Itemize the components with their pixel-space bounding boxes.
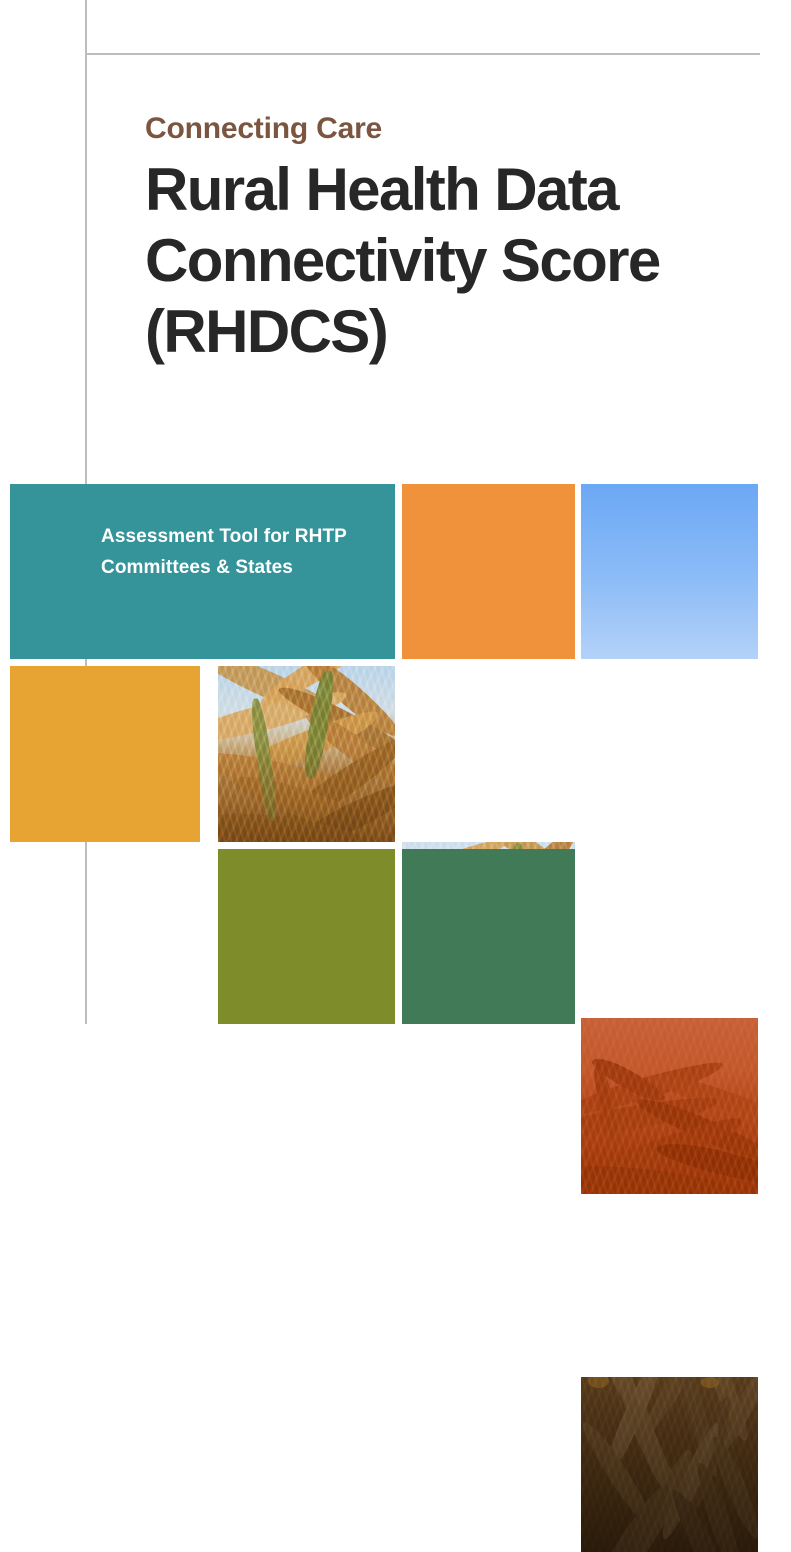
teal-subtitle-panel: Assessment Tool for RHTP Committees & St…: [10, 484, 395, 659]
sky-gradient-panel: [581, 484, 758, 659]
cornfield-photo-left: [218, 666, 395, 842]
photo-corn-blades: [581, 1377, 758, 1552]
cover-subtitle: Assessment Tool for RHTP Committees & St…: [101, 522, 361, 584]
empty-panel: [10, 849, 200, 1024]
amber-panel: [10, 666, 200, 842]
photo-sky-gradient: [581, 1377, 758, 1552]
orange-panel: [402, 484, 575, 659]
olive-panel: [218, 849, 395, 1024]
cornfield-photo-dark-brown: [581, 1377, 758, 1552]
sea-green-panel: [402, 849, 575, 1024]
photo-corn-blades: [581, 1018, 758, 1194]
cornfield-photo-orange-duotone: [581, 1018, 758, 1194]
page-title: Rural Health Data Connectivity Score (RH…: [145, 155, 720, 367]
eyebrow-label: Connecting Care: [145, 112, 745, 145]
page-margin-horizontal-rule: [85, 53, 760, 55]
photo-sky-gradient: [581, 1018, 758, 1194]
cover-image-mosaic: Assessment Tool for RHTP Committees & St…: [10, 484, 758, 1024]
cover-title-block: Connecting Care Rural Health Data Connec…: [145, 112, 745, 367]
photo-texture-grain: [581, 1018, 758, 1194]
photo-texture-grain: [581, 1377, 758, 1552]
photo-texture-grain: [218, 666, 395, 842]
